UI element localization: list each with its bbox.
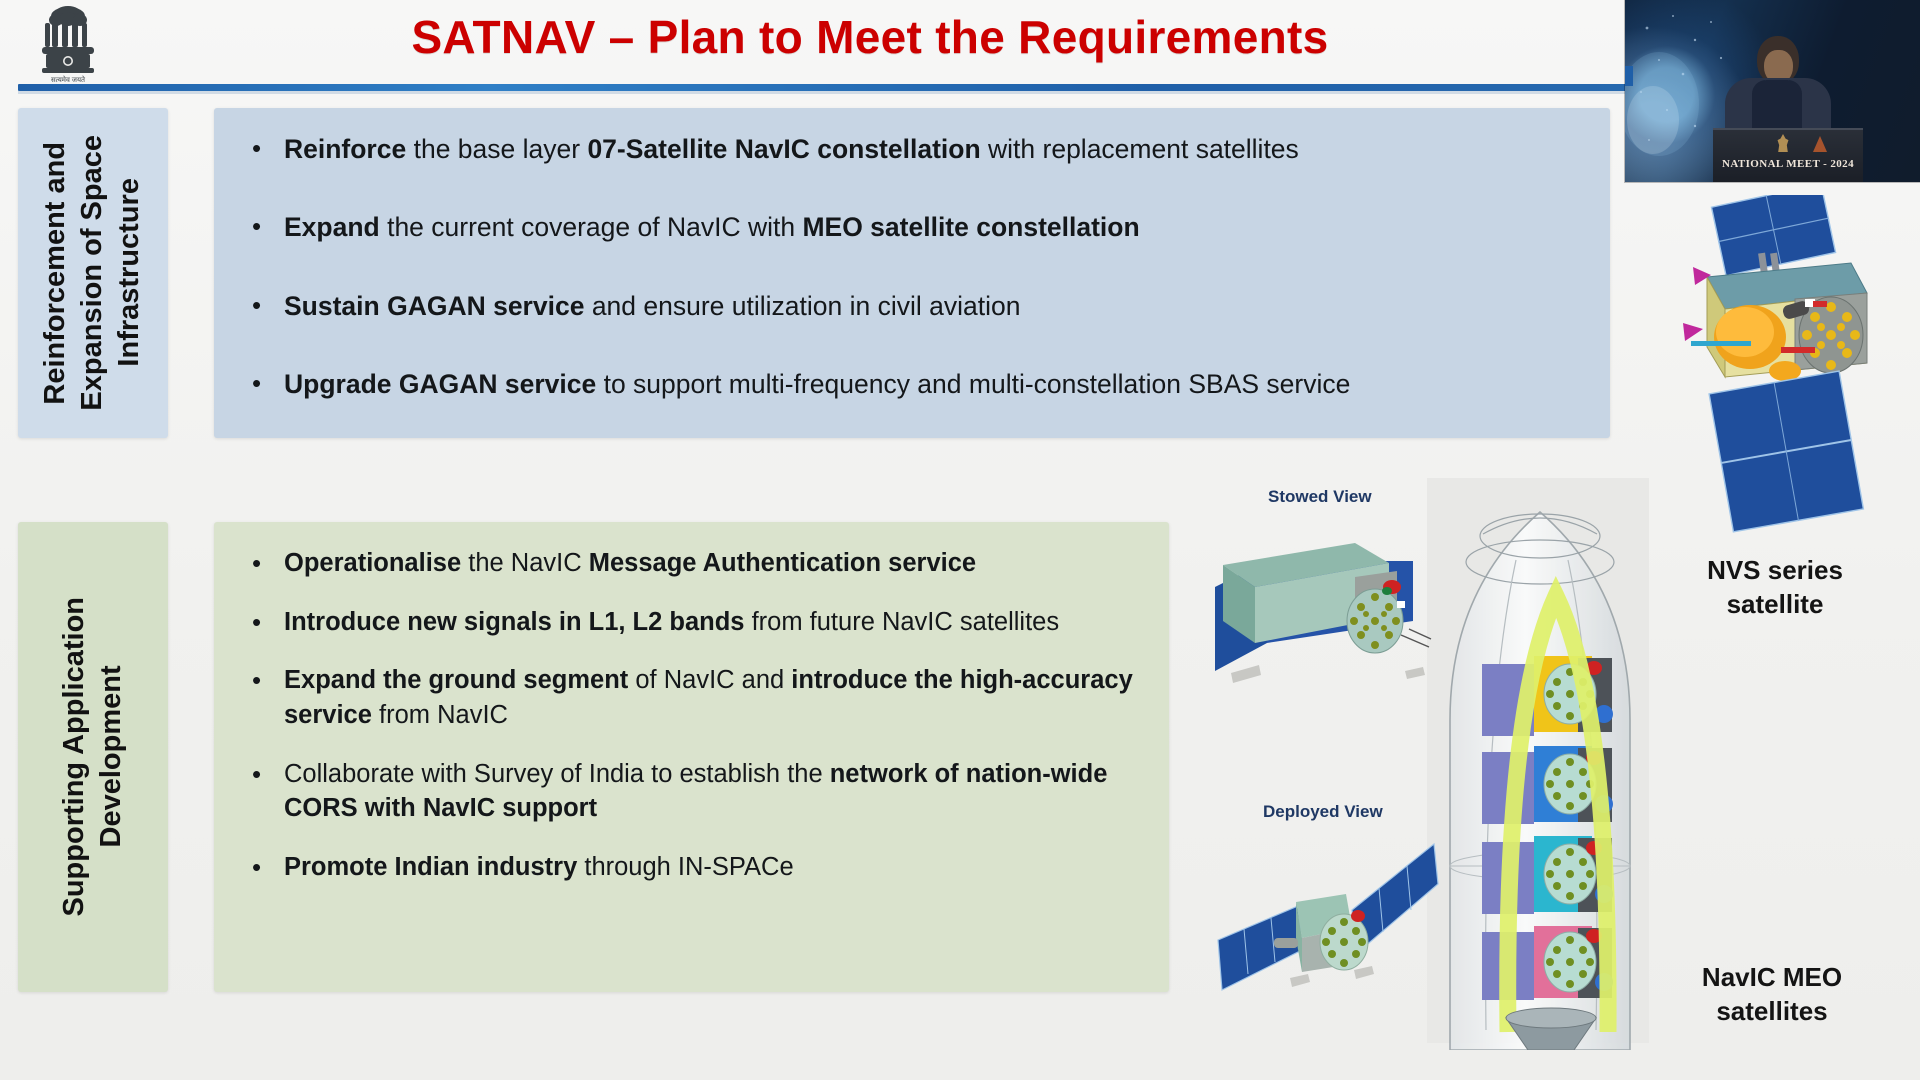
title-divider <box>18 84 1902 91</box>
bullet-dot-icon: • <box>252 850 261 885</box>
list-item: • Upgrade GAGAN service to support multi… <box>240 367 1584 401</box>
block-body-reinforcement: • Reinforce the base layer 07-Satellite … <box>214 108 1610 438</box>
bullet-segment: Message Authentication service <box>589 549 976 577</box>
bullet-segment: Introduce new signals in L1, L2 bands <box>284 608 745 636</box>
block-label-reinforcement: Reinforcement and Expansion of Space Inf… <box>18 108 168 438</box>
bullet-segment: Reinforce <box>284 134 406 164</box>
bullet-segment: to support multi-frequency and multi-con… <box>596 369 1350 399</box>
bullet-segment: 07-Satellite NavIC constellation <box>587 134 980 164</box>
bullet-list-supporting-application: • Operationalise the NavIC Message Authe… <box>240 546 1143 885</box>
slide-canvas: सत्यमेव जयते SATNAV – Plan to Meet the R… <box>0 0 1920 1080</box>
bullet-dot-icon: • <box>252 546 261 581</box>
list-item: • Promote Indian industry through IN-SPA… <box>240 850 1143 885</box>
bullet-segment: the base layer <box>406 134 587 164</box>
bullet-segment: with replacement satellites <box>981 134 1299 164</box>
block-label-text: Supporting Application Development <box>56 597 130 917</box>
bullet-list-reinforcement: • Reinforce the base layer 07-Satellite … <box>240 132 1584 402</box>
bullet-segment: the NavIC <box>461 549 589 577</box>
svg-text:सत्यमेव जयते: सत्यमेव जयते <box>51 75 86 84</box>
stowed-view-label: Stowed View <box>1268 487 1372 507</box>
bullet-segment: of NavIC and <box>628 666 791 694</box>
bullet-segment: from future NavIC satellites <box>745 608 1060 636</box>
video-overlay[interactable]: NATIONAL MEET - 2024 <box>1625 0 1920 182</box>
list-item: • Expand the current coverage of NavIC w… <box>240 210 1584 244</box>
bullet-segment: from NavIC <box>372 701 508 729</box>
bullet-segment: Upgrade GAGAN service <box>284 369 596 399</box>
list-item: • Operationalise the NavIC Message Authe… <box>240 546 1143 581</box>
bullet-segment: MEO satellite constellation <box>802 212 1139 242</box>
bullet-dot-icon: • <box>252 210 261 244</box>
bullet-dot-icon: • <box>252 289 261 323</box>
deployed-view-label: Deployed View <box>1263 802 1383 822</box>
bullet-segment: and ensure utilization in civil aviation <box>584 291 1020 321</box>
bullet-dot-icon: • <box>252 605 261 640</box>
bullet-segment: Sustain GAGAN service <box>284 291 584 321</box>
bullet-segment: the current coverage of NavIC with <box>380 212 803 242</box>
bullet-segment: Promote Indian industry <box>284 853 577 881</box>
bullet-dot-icon: • <box>252 663 261 698</box>
video-edge-marker <box>1625 66 1633 86</box>
bullet-dot-icon: • <box>252 757 261 792</box>
list-item: • Expand the ground segment of NavIC and… <box>240 663 1143 732</box>
bullet-segment: Operationalise <box>284 549 461 577</box>
list-item: • Reinforce the base layer 07-Satellite … <box>240 132 1584 166</box>
podium <box>1713 128 1863 182</box>
block-label-supporting-application: Supporting Application Development <box>18 522 168 992</box>
list-item: • Collaborate with Survey of India to es… <box>240 757 1143 826</box>
block-label-text: Reinforcement and Expansion of Space Inf… <box>37 135 148 411</box>
bullet-dot-icon: • <box>252 367 261 401</box>
bullet-segment: Expand <box>284 212 380 242</box>
nvs-satellite-image <box>1645 195 1920 540</box>
bullet-dot-icon: • <box>252 132 261 166</box>
bullet-segment: through IN-SPACe <box>577 853 793 881</box>
launch-fairing-cutaway-image <box>1420 470 1660 1050</box>
bullet-segment: Collaborate with Survey of India to esta… <box>284 760 830 788</box>
india-national-emblem-icon: सत्यमेव जयते <box>22 2 114 86</box>
podium-text: NATIONAL MEET - 2024 <box>1713 158 1863 170</box>
block-body-supporting-application: • Operationalise the NavIC Message Authe… <box>214 522 1169 992</box>
list-item: • Introduce new signals in L1, L2 bands … <box>240 605 1143 640</box>
list-item: • Sustain GAGAN service and ensure utili… <box>240 289 1584 323</box>
page-title: SATNAV – Plan to Meet the Requirements <box>160 10 1580 64</box>
nvs-satellite-caption: NVS series satellite <box>1640 553 1910 622</box>
title-divider-shadow <box>18 91 1902 94</box>
meo-satellites-caption: NavIC MEO satellites <box>1628 960 1916 1029</box>
bullet-segment: Expand the ground segment <box>284 666 628 694</box>
